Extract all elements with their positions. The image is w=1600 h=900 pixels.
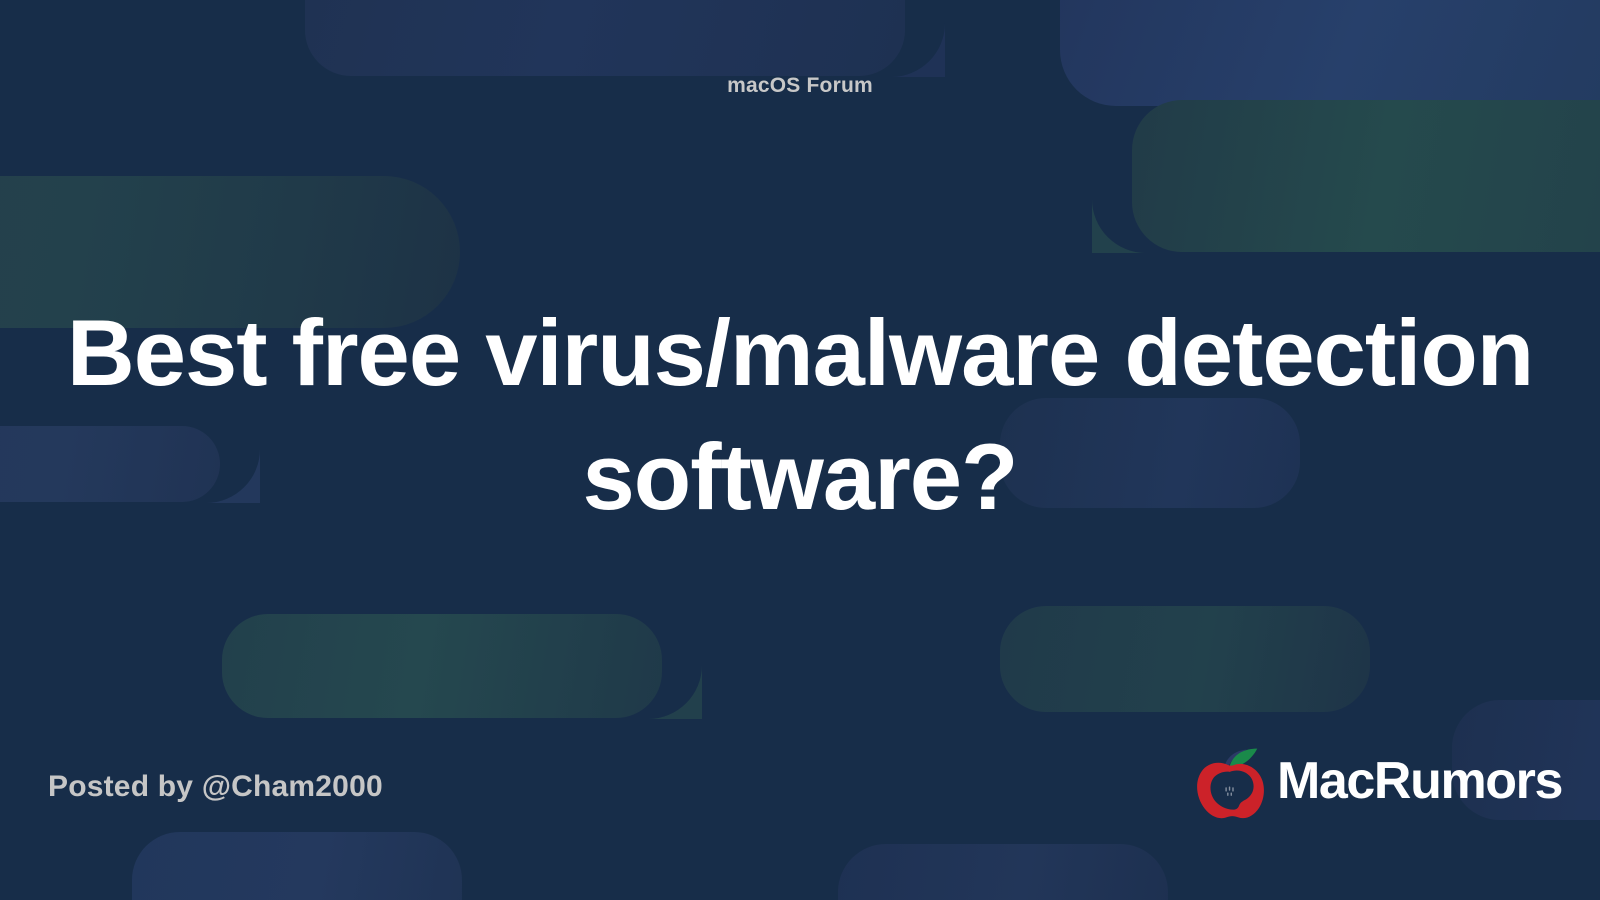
macrumors-logo: MacRumors <box>1185 740 1562 826</box>
page-title: Best free virus/malware detection softwa… <box>60 291 1540 539</box>
social-share-card: macOS Forum Best free virus/malware dete… <box>0 0 1600 900</box>
forum-label: macOS Forum <box>0 74 1600 98</box>
macrumors-wordmark: MacRumors <box>1277 755 1562 811</box>
macrumors-apple-question-mark-logo-icon <box>1185 740 1271 826</box>
posted-by-label: Posted by @Cham2000 <box>48 770 383 804</box>
card-content: macOS Forum Best free virus/malware dete… <box>0 0 1600 900</box>
